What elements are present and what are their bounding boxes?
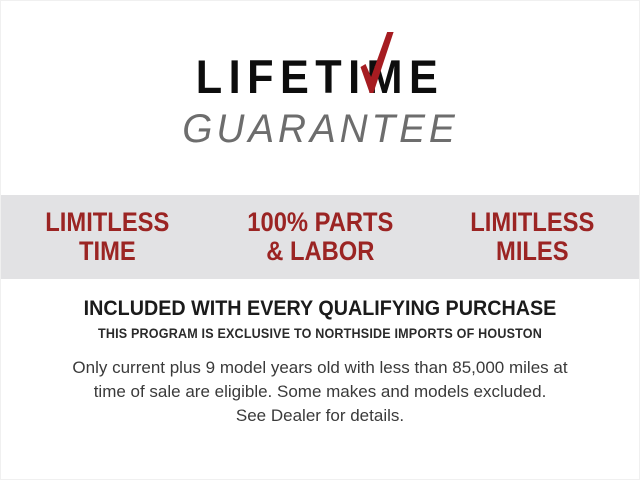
- wordmark-guarantee: GUARANTEE: [1, 109, 639, 149]
- feature-column-parts-labor: 100% PARTS & LABOR: [214, 208, 427, 265]
- feature-line-1: LIMITLESS: [16, 208, 200, 237]
- wordmark-m-with-check: M: [366, 53, 408, 100]
- feature-column-limitless-time: LIMITLESS TIME: [1, 208, 214, 265]
- feature-line-1: LIMITLESS: [441, 208, 625, 237]
- feature-column-limitless-miles: LIMITLESS MILES: [426, 208, 639, 265]
- offer-headline: INCLUDED WITH EVERY QUALIFYING PURCHASE: [20, 297, 620, 321]
- feature-line-1: 100% PARTS: [228, 208, 412, 237]
- feature-line-2: & LABOR: [228, 237, 412, 266]
- offer-subheadline: THIS PROGRAM IS EXCLUSIVE TO NORTHSIDE I…: [23, 326, 616, 341]
- offer-details: INCLUDED WITH EVERY QUALIFYING PURCHASE …: [1, 279, 639, 428]
- feature-line-2: TIME: [16, 237, 200, 266]
- wordmark-guarantee-text: GUARANTEE: [182, 109, 458, 149]
- fine-print-line: time of sale are eligible. Some makes an…: [50, 380, 590, 404]
- feature-line-2: MILES: [441, 237, 625, 266]
- wordmark-segment-after-m: E: [409, 50, 444, 103]
- wordmark-lifetime: LIFETIM E: [1, 53, 639, 100]
- logo-lockup: LIFETIM E GUARANTEE: [1, 1, 639, 195]
- wordmark-segment-before-m: LIFETI: [196, 50, 367, 103]
- lifetime-guarantee-ad: LIFETIM E GUARANTEE LIMITLESS TIME 100% …: [0, 0, 640, 480]
- wordmark-segment-m: M: [366, 50, 408, 103]
- fine-print: Only current plus 9 model years old with…: [50, 356, 590, 428]
- fine-print-line: See Dealer for details.: [50, 404, 590, 428]
- wordmark-lifetime-text: LIFETIM E: [196, 53, 445, 100]
- feature-band: LIMITLESS TIME 100% PARTS & LABOR LIMITL…: [1, 195, 639, 279]
- fine-print-line: Only current plus 9 model years old with…: [50, 356, 590, 380]
